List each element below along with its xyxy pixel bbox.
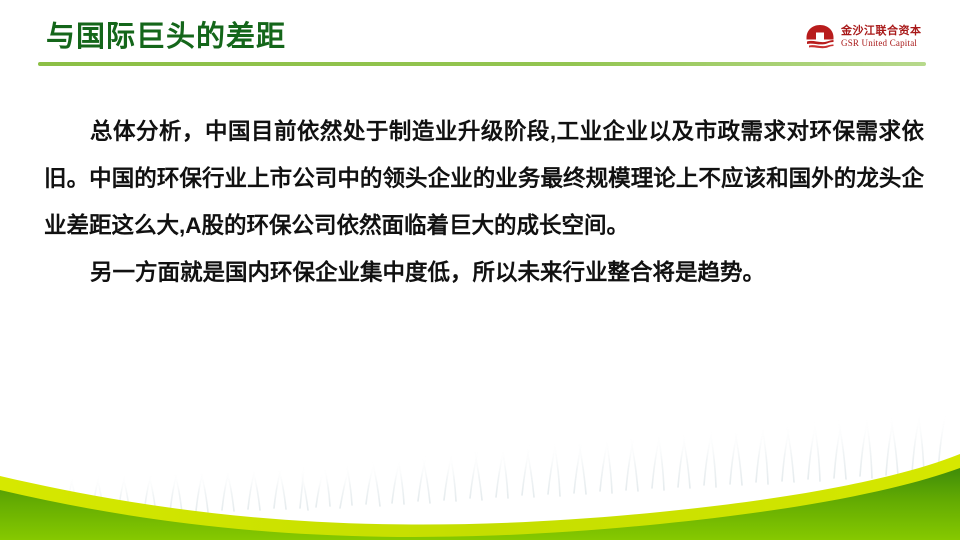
title-underline-rule [38, 62, 926, 66]
grass-hill-svg [0, 390, 960, 540]
logo-name-cn: 金沙江联合资本 [841, 26, 922, 37]
presentation-slide: 与国际巨头的差距 金沙江联合资本 GSR United Capital 总体分析… [0, 0, 960, 540]
slide-body: 总体分析，中国目前依然处于制造业升级阶段,工业企业以及市政需求对环保需求依旧。中… [44, 108, 924, 296]
body-paragraph-2: 另一方面就是国内环保企业集中度低，所以未来行业整合将是趋势。 [44, 249, 924, 296]
page-title: 与国际巨头的差距 [46, 20, 286, 54]
grass-hill-decoration [0, 390, 960, 540]
company-logo: 金沙江联合资本 GSR United Capital [805, 20, 933, 54]
logo-wordmark: 金沙江联合资本 GSR United Capital [841, 26, 922, 48]
body-paragraph-1: 总体分析，中国目前依然处于制造业升级阶段,工业企业以及市政需求对环保需求依旧。中… [44, 108, 924, 249]
red-circle-wave-logo-icon [805, 23, 835, 51]
logo-name-en: GSR United Capital [841, 39, 922, 48]
